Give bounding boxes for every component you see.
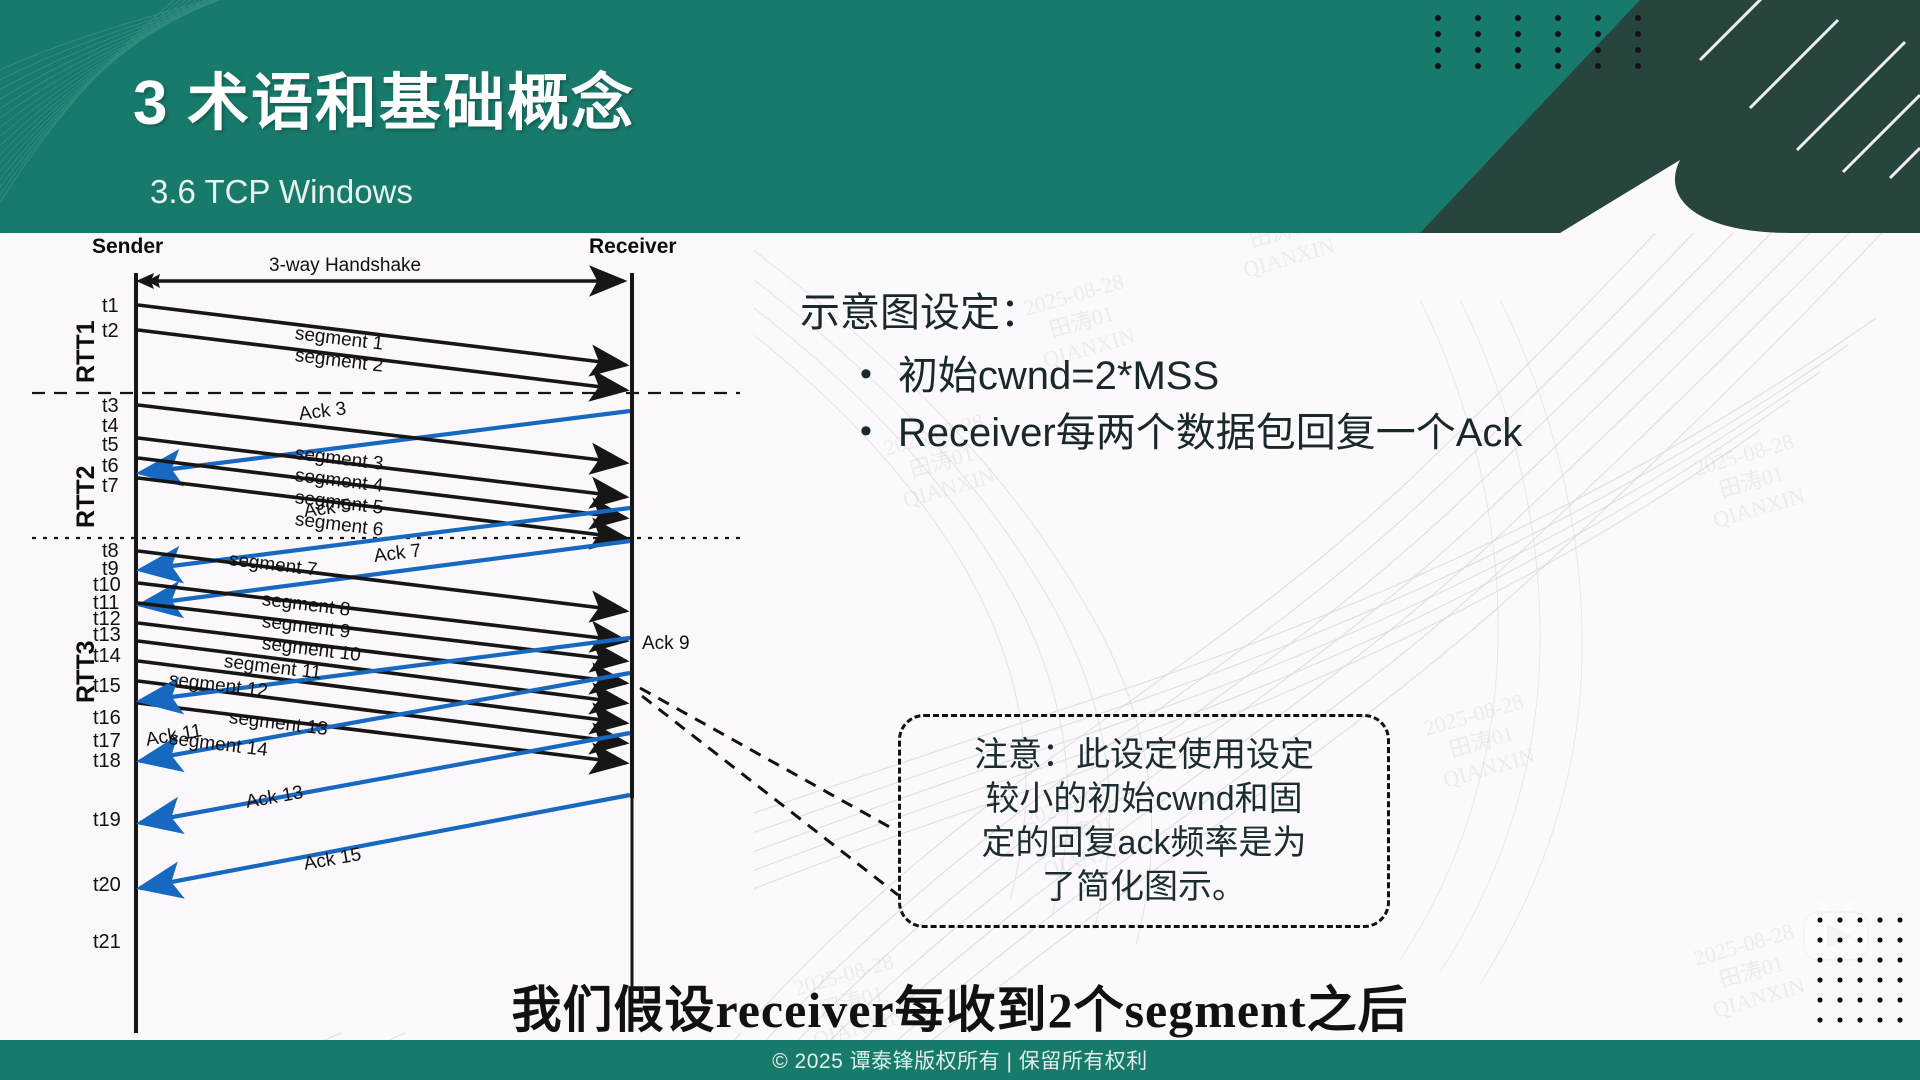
page-subtitle: 3.6 TCP Windows [150, 173, 413, 211]
slide-footer: © 2025 谭泰锋版权所有 | 保留所有权利 [0, 1040, 1920, 1080]
sender-label: Sender [92, 235, 163, 259]
list-item: • 初始cwnd=2*MSS [860, 350, 1522, 403]
callout-note: 注意：此设定使用设定 较小的初始cwnd和固 定的回复ack频率是为 了简化图示… [898, 714, 1390, 928]
time-tick-t18: t18 [93, 750, 121, 773]
list-item: • Receiver每两个数据包回复一个Ack [860, 407, 1522, 460]
video-caption: 我们假设receiver每收到2个segment之后 [0, 970, 1920, 1042]
bullet-marker-icon: • [860, 350, 872, 399]
ack-label-9: Ack 9 [642, 633, 690, 655]
dot-grid-decoration [1810, 910, 1920, 1040]
time-tick-t5: t5 [102, 434, 119, 457]
rtt-label-2: RTT2 [72, 466, 101, 529]
receiver-label: Receiver [589, 235, 677, 259]
time-tick-t2: t2 [102, 320, 119, 343]
dot-grid-decoration [1430, 10, 1670, 70]
tcp-sequence-diagram: Sender Receiver 3-way Handshake RTT1 RTT… [14, 233, 754, 1033]
callout-text: 注意：此设定使用设定 较小的初始cwnd和固 定的回复ack频率是为 了简化图示… [956, 733, 1332, 910]
bullet-text: Receiver每两个数据包回复一个Ack [898, 407, 1523, 460]
handshake-label: 3-way Handshake [269, 255, 421, 277]
callout-line-3: 定的回复ack频率是为 [974, 821, 1314, 865]
callout-line-2: 较小的初始cwnd和固 [974, 777, 1314, 821]
watermark: 2025-08-28 田涛01 QIANXIN [1691, 427, 1812, 535]
callout-line-4: 了简化图示。 [974, 865, 1314, 909]
notes-heading: 示意图设定： [800, 280, 1040, 338]
time-tick-t7: t7 [102, 475, 119, 498]
time-tick-t14: t14 [93, 645, 121, 668]
rtt-label-1: RTT1 [72, 321, 101, 384]
watermark: 2025-08-28 田涛01 QIANXIN [1421, 687, 1542, 795]
slide-root: 2025-08-28 田涛01 QIANXIN 2025-08-28 田涛01 … [0, 0, 1920, 1080]
bullet-marker-icon: • [860, 407, 872, 456]
callout-line-1: 注意：此设定使用设定 [974, 733, 1314, 777]
time-tick-t1: t1 [102, 295, 119, 318]
time-tick-t19: t19 [93, 809, 121, 832]
notes-bullet-list: • 初始cwnd=2*MSS • Receiver每两个数据包回复一个Ack [860, 350, 1522, 464]
page-title-number: 3 [133, 69, 169, 138]
bullet-text: 初始cwnd=2*MSS [898, 350, 1219, 403]
time-tick-t16: t16 [93, 707, 121, 730]
page-title-text: 术语和基础概念 [187, 70, 635, 138]
slide-header: 3 术语和基础概念 3.6 TCP Windows [0, 0, 1470, 233]
footer-copyright: © 2025 谭泰锋版权所有 | 保留所有权利 [772, 1045, 1147, 1075]
time-tick-t15: t15 [93, 675, 121, 698]
time-tick-t20: t20 [93, 874, 121, 897]
page-title: 3 术语和基础概念 [133, 52, 635, 142]
time-tick-t21: t21 [93, 931, 121, 954]
watermark: 2025-08-28 田涛01 QIANXIN [1781, 107, 1902, 215]
time-tick-t13: t13 [93, 624, 121, 647]
